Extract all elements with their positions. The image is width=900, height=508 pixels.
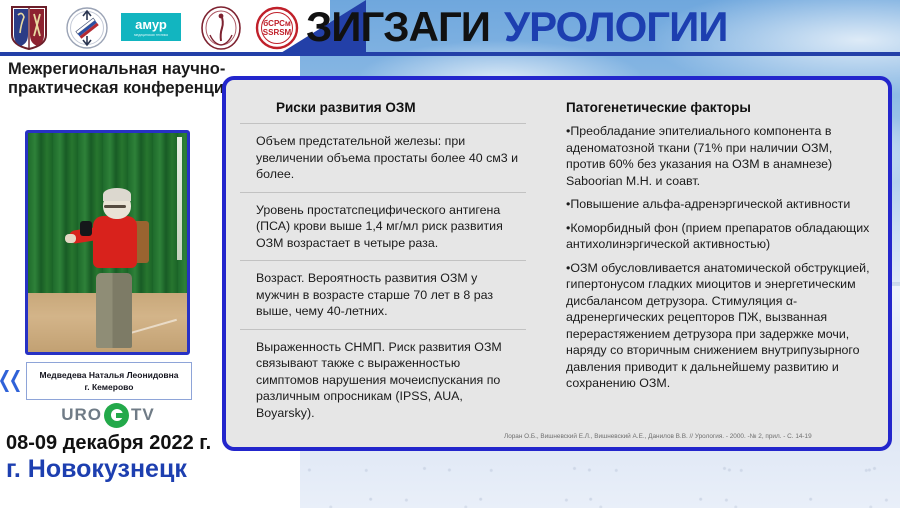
title-word-blue: УРОЛОГИИ — [504, 3, 728, 51]
chevron-left-icon — [11, 370, 20, 392]
page-title: ЗИГЗАГИ УРОЛОГИИ — [306, 0, 900, 54]
svg-text:медицинская техника: медицинская техника — [134, 33, 168, 37]
conference-date: 08-09 декабря 2022 г. — [6, 432, 246, 455]
speaker-city: г. Кемерово — [85, 381, 134, 393]
conference-title: Межрегиональная научно-практическая конф… — [8, 60, 248, 99]
risks-heading: Риски развития ОЗМ — [240, 94, 526, 123]
risk-item: Выраженность СНМП. Риск развития ОЗМ свя… — [240, 329, 526, 431]
medical-association-emblem-icon — [198, 5, 244, 56]
russian-urology-society-emblem-icon — [64, 5, 110, 56]
kemerovo-medical-university-crest-icon — [10, 5, 48, 56]
factor-bullet: •ОЗМ обусловливается анатомической обстр… — [558, 260, 874, 399]
speaker-torso — [93, 216, 137, 268]
risks-column: Риски развития ОЗМ Объем предстательной … — [240, 94, 536, 441]
factor-bullet: •Повышение альфа-адренэргической активно… — [558, 196, 874, 220]
risk-item: Объем предстательной железы: при увеличе… — [240, 123, 526, 192]
microphone-icon — [80, 221, 92, 236]
glasses-icon — [104, 205, 126, 208]
svg-text:бСРСм: бСРСм — [263, 19, 291, 28]
factor-bullet: •Коморбидный фон (прием препаратов облад… — [558, 220, 874, 260]
speaker-hand — [65, 234, 76, 243]
speaker-legs — [96, 273, 132, 347]
urotv-logo-text-left: URO — [61, 405, 102, 425]
logo-row: амур медицинская техника бСРСм SSRSM — [6, 3, 296, 51]
slide-panel: Риски развития ОЗМ Объем предстательной … — [222, 76, 892, 451]
speaker-card: Медведева Наталья Леонидовна г. Кемерово — [26, 362, 192, 400]
speaker-hair — [103, 188, 131, 201]
speaker-name: Медведева Наталья Леонидовна — [40, 369, 179, 381]
svg-text:амур: амур — [135, 17, 167, 32]
sscpcm-ssrsm-emblem-icon: бСРСм SSRSM — [254, 5, 300, 56]
curtain-light-gap — [177, 137, 182, 260]
chevron-left-icon — [0, 370, 9, 392]
urotv-logo-text-right: TV — [131, 405, 155, 425]
conference-city: г. Новокузнецк — [6, 455, 246, 484]
urotv-logo: URO TV — [33, 400, 183, 430]
risk-item: Возраст. Вероятность развития ОЗМ у мужч… — [240, 260, 526, 329]
svg-text:SSRSM: SSRSM — [263, 28, 292, 37]
urotv-play-icon — [104, 403, 129, 428]
speaker-photo — [25, 130, 190, 355]
factors-heading: Патогенетические факторы — [558, 94, 874, 123]
amur-company-logo-icon: амур медицинская техника — [121, 13, 181, 46]
slide-screenshot: амур медицинская техника бСРСм SSRSM — [0, 0, 900, 508]
quote-chevrons — [0, 362, 28, 400]
risk-item: Уровень простатспецифического антигена (… — [240, 192, 526, 261]
title-word-black: ЗИГЗАГИ — [306, 3, 490, 51]
source-citation: Лоран О.Б., Вишневский Е.Л., Вишневский … — [504, 433, 874, 441]
factor-bullet: •Преобладание эпителиального компонента … — [558, 123, 874, 196]
pathogenetic-factors-column: Патогенетические факторы •Преобладание э… — [536, 94, 874, 441]
